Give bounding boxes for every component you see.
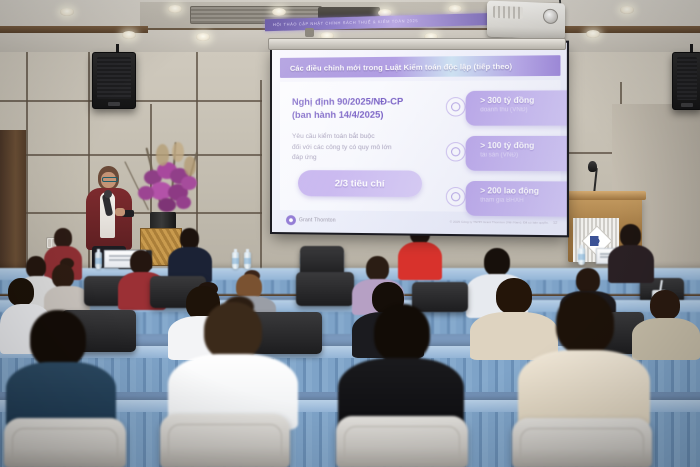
criteria-button-label: 2/3 tiêu chí — [335, 178, 385, 189]
attendee-front-d — [518, 292, 650, 426]
attendee-head — [130, 250, 152, 274]
flower — [158, 198, 176, 212]
decree-subtext: Yêu cầu kiểm toán bắt buộc đối với các c… — [292, 132, 445, 164]
projection-screen: Các điều chỉnh mới trong Luật Kiểm toán … — [272, 43, 567, 236]
downlight — [122, 31, 136, 39]
flower — [138, 186, 154, 200]
decree-heading: Nghị định 90/2025/NĐ-CP (ban hành 14/4/2… — [292, 95, 445, 122]
criterion-caption: doanh thu (VNĐ) — [480, 106, 567, 116]
attendee-head — [26, 256, 46, 278]
podium-top — [564, 191, 646, 200]
attendee-head — [180, 228, 199, 249]
speaker-badge — [108, 102, 120, 106]
grant-thornton-mark-icon — [286, 215, 296, 225]
revenue-icon — [446, 97, 466, 116]
slide-title: Các điều chỉnh mới trong Luật Kiểm toán … — [280, 61, 512, 72]
decree-subtext-line3: đáp ứng — [292, 153, 445, 164]
chair — [296, 272, 354, 306]
attendee-body — [518, 350, 650, 428]
screen-housing — [268, 38, 566, 50]
downlight — [448, 5, 462, 13]
attendee-head — [374, 304, 430, 362]
criterion-value: > 100 tỷ đồng — [480, 141, 567, 151]
dried-grass — [156, 144, 169, 166]
projector-mount — [305, 28, 314, 37]
chair-front-2[interactable] — [160, 414, 290, 467]
attendee-head — [54, 228, 72, 248]
brand-name: Grant Thornton — [299, 217, 336, 223]
water-bottle — [244, 252, 251, 269]
ceiling-trim-right — [556, 26, 700, 33]
attendee-head — [650, 290, 680, 320]
attendee-front-c — [338, 304, 464, 426]
slide-footer: Grant Thornton © 2025 Công ty TNHH Grant… — [280, 212, 561, 231]
conference-room-photo: HỘI THẢO CẬP NHẬT CHÍNH SÁCH THUẾ & KIỂM… — [0, 0, 700, 467]
water-bottle — [578, 248, 585, 265]
attendee-front-a — [6, 310, 116, 420]
decree-heading-line1: Nghị định 90/2025/NĐ-CP — [292, 95, 445, 109]
slide-page-number: 12 — [553, 221, 560, 225]
attendee-head — [556, 292, 614, 354]
wall-speaker-left — [92, 52, 136, 109]
attendee-head — [204, 302, 262, 360]
attendee-head — [484, 248, 510, 276]
water-bottle — [232, 252, 239, 269]
downlight — [272, 8, 286, 16]
grant-thornton-logo: Grant Thornton — [280, 215, 336, 226]
eyeglasses-icon — [102, 177, 118, 182]
wall-speaker-right — [672, 52, 700, 110]
attendee-head — [366, 256, 389, 281]
wall-panel-line — [260, 80, 262, 300]
criterion-caption: tham gia BHXH — [480, 196, 567, 206]
attendee-head — [576, 268, 600, 293]
microphone-head-icon — [104, 190, 112, 198]
speaker-grill — [97, 57, 131, 99]
attendee-front-b — [168, 300, 298, 424]
slide-body: Nghị định 90/2025/NĐ-CP (ban hành 14/4/2… — [280, 80, 561, 212]
downlight — [60, 8, 74, 16]
criterion-pill-revenue: > 300 tỷ đồng doanh thu (VNĐ) — [466, 90, 567, 126]
projector-vent — [493, 6, 523, 19]
slide-title-bar: Các điều chỉnh mới trong Luật Kiểm toán … — [280, 55, 561, 78]
dried-grass — [172, 142, 184, 162]
attendee-head — [8, 278, 34, 306]
attendee-head — [620, 224, 641, 247]
microphone-icon — [588, 161, 597, 172]
downlight — [620, 6, 634, 14]
speaker-grill — [677, 57, 697, 100]
flower — [181, 176, 197, 190]
presentation-slide: Các điều chỉnh mới trong Luật Kiểm toán … — [272, 43, 567, 236]
water-bottle — [95, 252, 102, 269]
flower — [176, 196, 191, 209]
attendee-body — [398, 242, 442, 280]
presenter-hand — [115, 208, 125, 216]
decree-subtext-line2: đối với các công ty có quy mô lớn — [292, 143, 445, 154]
speaker-badge — [681, 103, 693, 107]
decree-subtext-line1: Yêu cầu kiểm toán bắt buộc — [292, 132, 445, 143]
criterion-caption: tài sản (VNĐ) — [480, 151, 567, 161]
dried-grass — [184, 156, 196, 176]
chair-front-3[interactable] — [336, 416, 468, 467]
downlight — [168, 5, 182, 13]
assets-icon — [446, 142, 466, 161]
employees-icon — [446, 187, 466, 207]
slide-copyright: © 2025 Công ty TNHH Grant Thornton (Việt… — [450, 220, 553, 225]
attendee-head — [52, 264, 74, 288]
criterion-pill-assets: > 100 tỷ đồng tài sản (VNĐ) — [466, 136, 567, 171]
projector-lens-icon — [543, 9, 558, 25]
ceiling-projector — [487, 1, 565, 40]
attendee-head — [30, 310, 86, 368]
chair-front-1[interactable] — [4, 418, 126, 467]
event-banner-text: HỘI THẢO CẬP NHẬT CHÍNH SÁCH THUẾ & KIỂM… — [273, 18, 418, 27]
criterion-value: > 300 tỷ đồng — [480, 95, 567, 106]
decree-heading-line2: (ban hành 14/4/2025) — [292, 108, 445, 122]
chair-front-4[interactable] — [512, 418, 652, 467]
criterion-pill-employees: > 200 lao động tham gia BHXH — [466, 181, 567, 217]
criteria-button: 2/3 tiêu chí — [298, 170, 422, 197]
downlight — [196, 33, 210, 41]
downlight — [586, 30, 600, 38]
attendee-far-suit — [168, 228, 212, 280]
